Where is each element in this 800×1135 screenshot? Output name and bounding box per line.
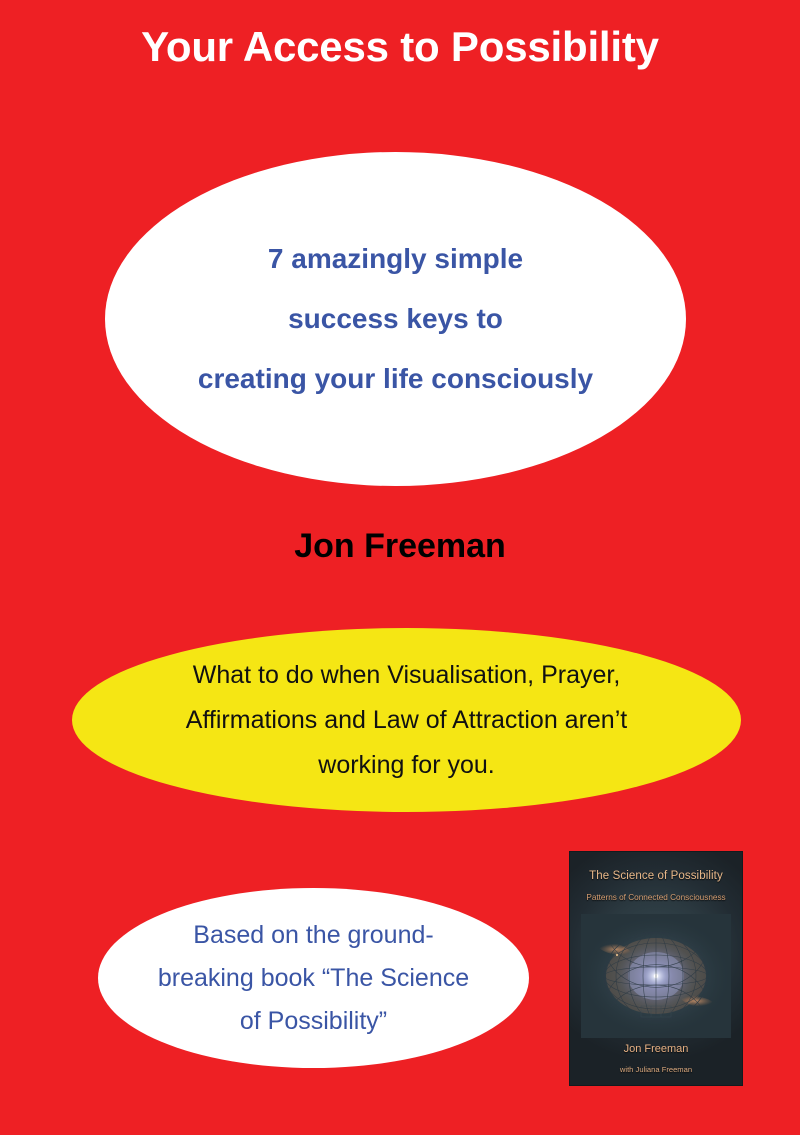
book-cover-title: The Science of Possibility bbox=[570, 870, 742, 882]
book-basis-ellipse: Based on the ground- breaking book “The … bbox=[98, 888, 529, 1068]
keys-line-3: creating your life consciously bbox=[198, 365, 593, 393]
book-cover-author: Jon Freeman bbox=[570, 1043, 742, 1055]
book-cover-coauthor: with Juliana Freeman bbox=[570, 1065, 742, 1074]
nebula-wireframe-sphere-icon bbox=[581, 914, 731, 1038]
basis-line-2: breaking book “The Science bbox=[158, 966, 469, 991]
keys-line-2: success keys to bbox=[288, 305, 503, 333]
poster-canvas: Your Access to Possibility 7 amazingly s… bbox=[0, 0, 800, 1135]
problem-line-1: What to do when Visualisation, Prayer, bbox=[193, 663, 621, 688]
keys-ellipse: 7 amazingly simple success keys to creat… bbox=[105, 152, 686, 486]
book-cover-image: The Science of Possibility Patterns of C… bbox=[570, 852, 742, 1085]
book-cover-subtitle: Patterns of Connected Consciousness bbox=[570, 893, 742, 902]
page-title: Your Access to Possibility bbox=[0, 24, 800, 70]
basis-line-1: Based on the ground- bbox=[193, 923, 433, 948]
author-name: Jon Freeman bbox=[0, 527, 800, 566]
problem-line-3: working for you. bbox=[318, 753, 494, 778]
problem-ellipse: What to do when Visualisation, Prayer, A… bbox=[72, 628, 741, 812]
basis-line-3: of Possibility” bbox=[240, 1009, 387, 1034]
problem-line-2: Affirmations and Law of Attraction aren’… bbox=[186, 708, 627, 733]
keys-line-1: 7 amazingly simple bbox=[268, 245, 523, 273]
